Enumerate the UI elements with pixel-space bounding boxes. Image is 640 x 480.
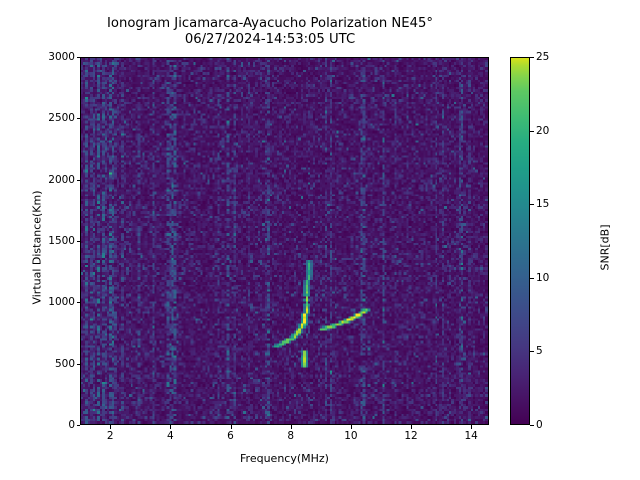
y-tick-label: 2000	[48, 174, 75, 186]
x-tick-mark	[351, 425, 352, 429]
y-tick-mark	[77, 57, 81, 58]
colorbar-tick-mark	[530, 278, 534, 279]
x-tick-label: 2	[107, 430, 114, 442]
colorbar-tick-label: 25	[536, 51, 549, 63]
x-tick-label: 4	[167, 430, 174, 442]
x-axis-label: Frequency(MHz)	[80, 452, 489, 465]
colorbar-tick-label: 0	[536, 419, 543, 431]
x-tick-label: 12	[404, 430, 417, 442]
heatmap-canvas	[81, 58, 488, 424]
x-tick-mark	[471, 425, 472, 429]
y-tick-mark	[77, 364, 81, 365]
y-tick-mark	[77, 118, 81, 119]
y-tick-mark	[77, 180, 81, 181]
colorbar-tick-mark	[530, 131, 534, 132]
y-tick-label: 1500	[48, 235, 75, 247]
y-tick-mark	[77, 241, 81, 242]
x-tick-mark	[170, 425, 171, 429]
x-tick-label: 14	[465, 430, 478, 442]
y-tick-label: 3000	[48, 51, 75, 63]
x-tick-mark	[411, 425, 412, 429]
y-tick-label: 2500	[48, 112, 75, 124]
colorbar	[510, 57, 530, 425]
colorbar-tick-mark	[530, 57, 534, 58]
ionogram-figure: Ionogram Jicamarca-Ayacucho Polarization…	[0, 0, 640, 480]
colorbar-tick-label: 10	[536, 272, 549, 284]
x-tick-mark	[110, 425, 111, 429]
colorbar-tick-label: 20	[536, 125, 549, 137]
x-tick-label: 6	[227, 430, 234, 442]
y-tick-label: 500	[55, 358, 75, 370]
x-tick-label: 10	[344, 430, 357, 442]
y-tick-mark	[77, 425, 81, 426]
y-tick-label: 0	[68, 419, 75, 431]
colorbar-tick-mark	[530, 204, 534, 205]
colorbar-label: SNR[dB]	[599, 148, 612, 348]
y-tick-label: 1000	[48, 296, 75, 308]
x-tick-mark	[291, 425, 292, 429]
x-tick-mark	[231, 425, 232, 429]
colorbar-tick-label: 5	[536, 345, 543, 357]
colorbar-tick-mark	[530, 351, 534, 352]
y-tick-mark	[77, 302, 81, 303]
colorbar-tick-mark	[530, 425, 534, 426]
chart-title: Ionogram Jicamarca-Ayacucho Polarization…	[0, 16, 540, 48]
y-axis-label: Virtual Distance(Km)	[31, 148, 44, 348]
heatmap-plot-area[interactable]	[80, 57, 489, 425]
x-tick-label: 8	[287, 430, 294, 442]
colorbar-tick-label: 15	[536, 198, 549, 210]
